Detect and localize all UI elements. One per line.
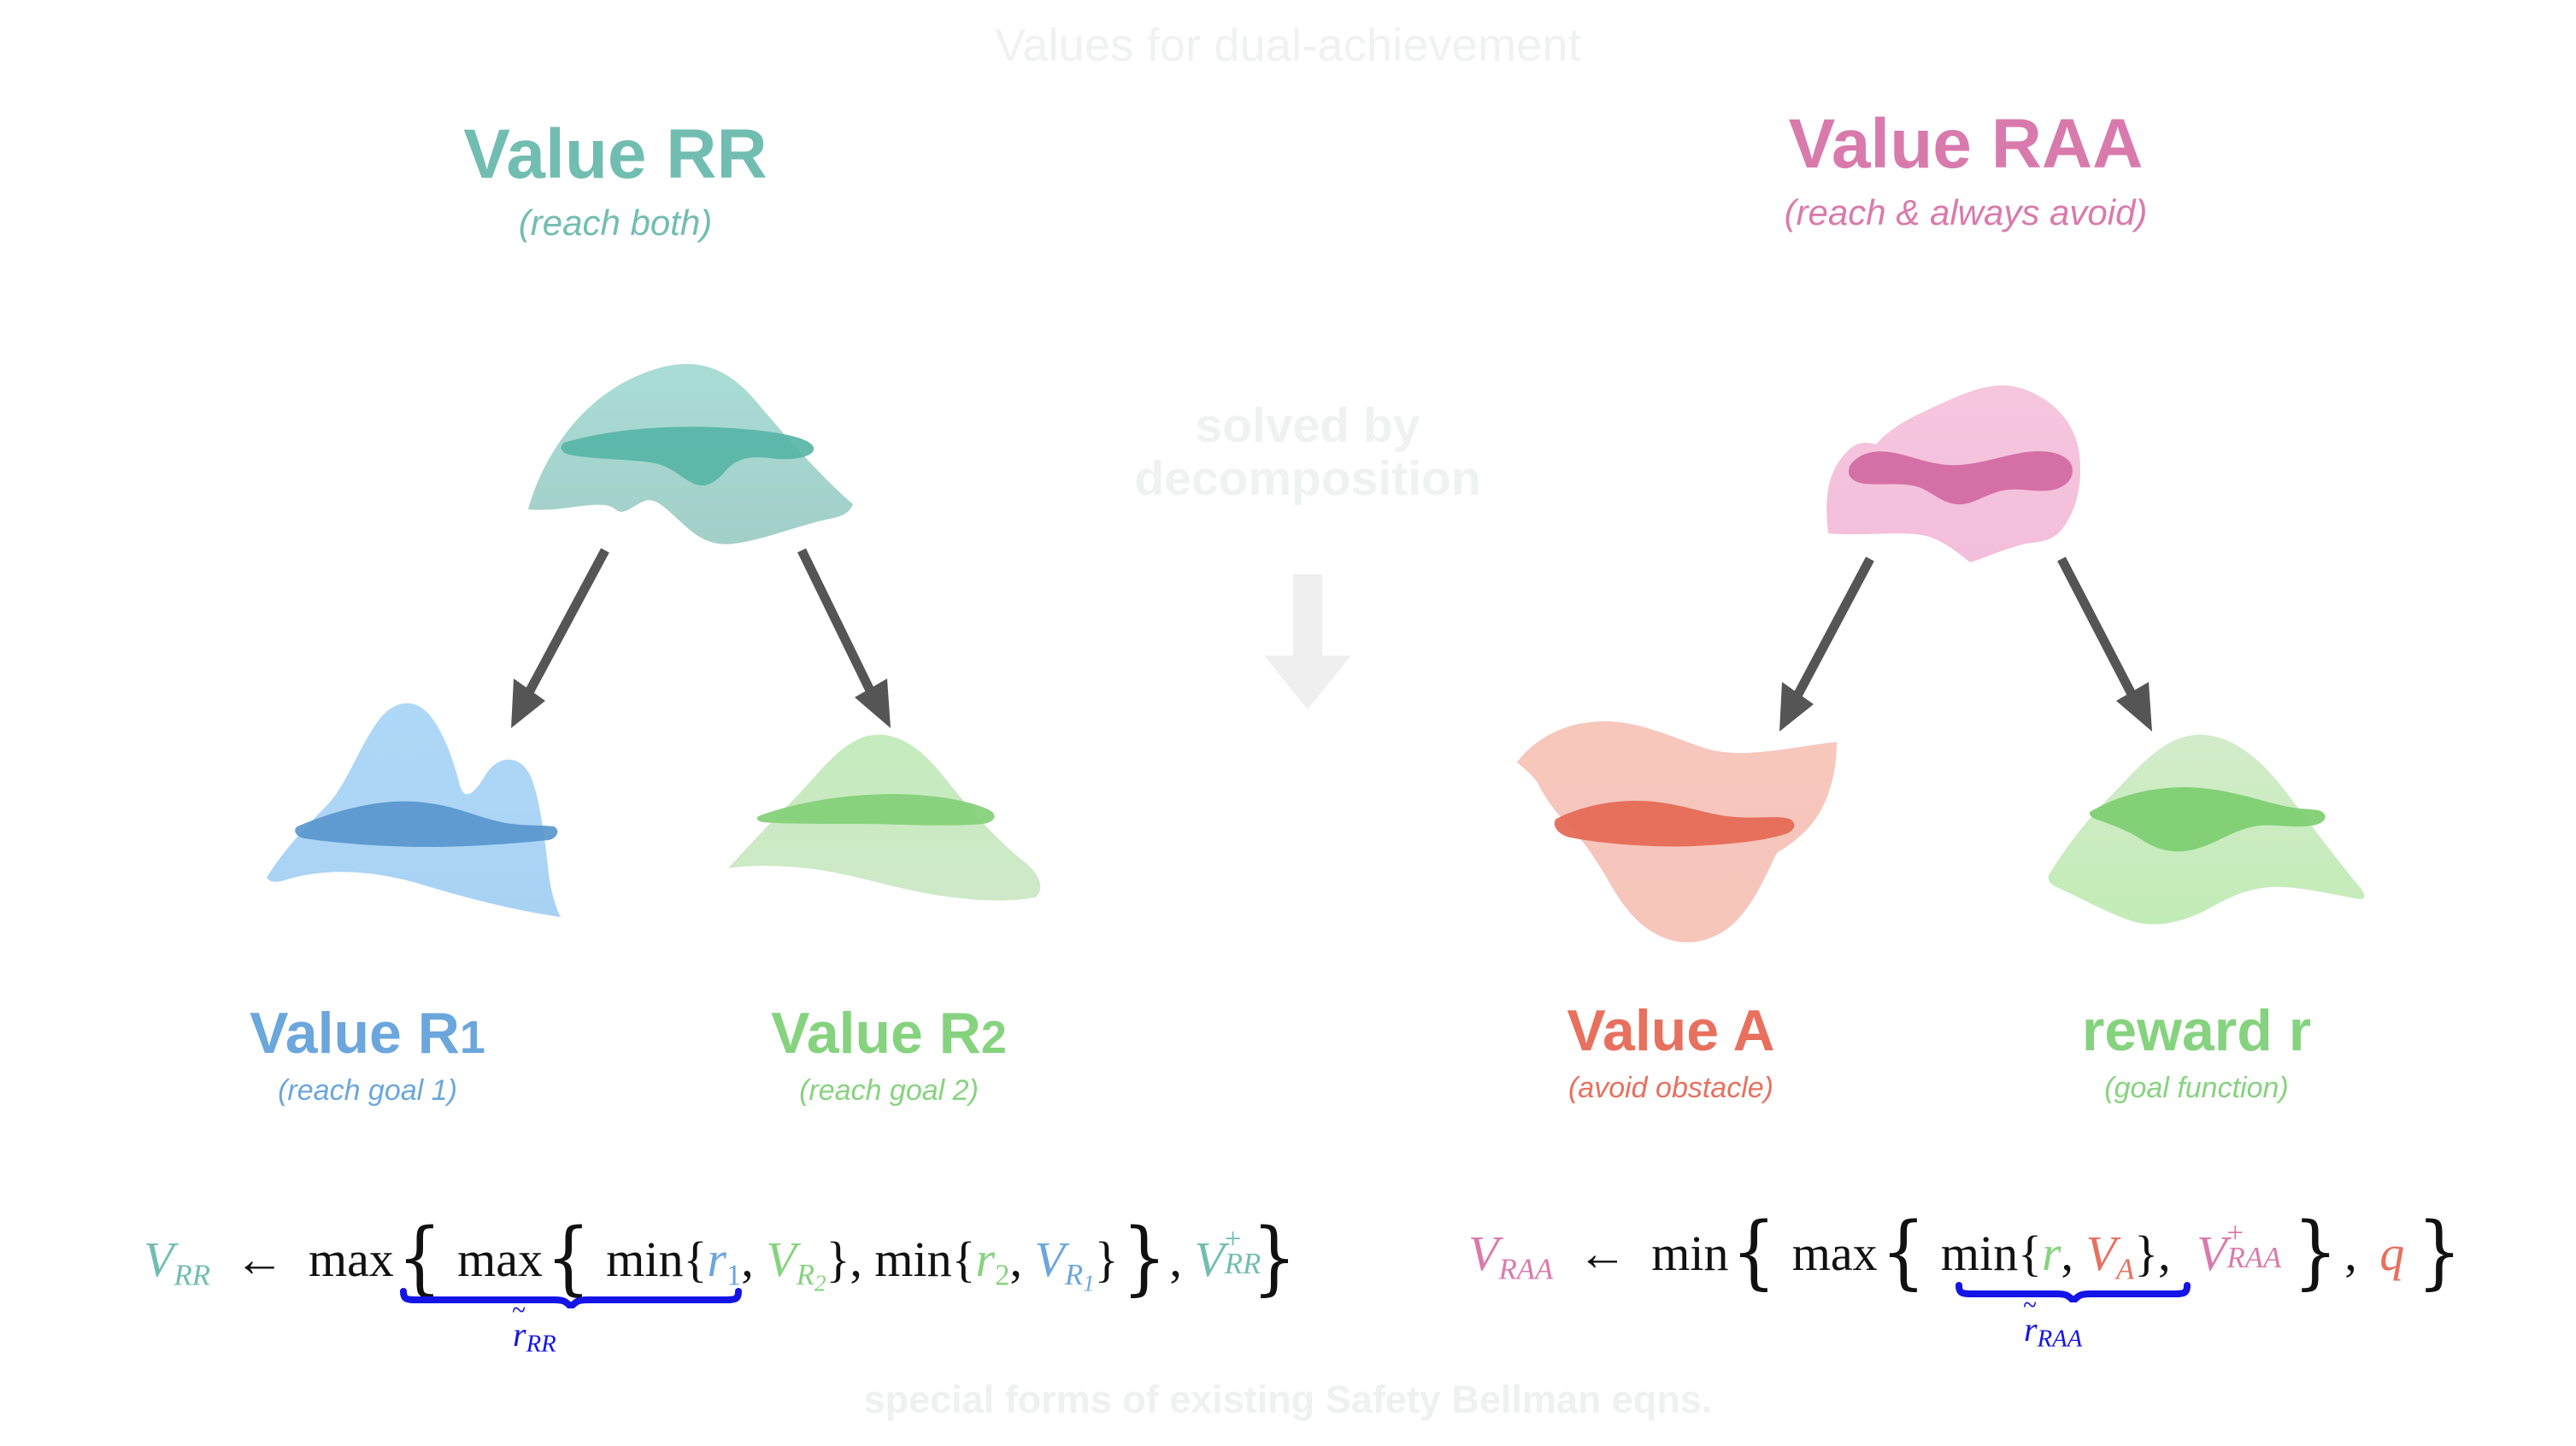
- eq-left-min1-op: min: [606, 1231, 683, 1287]
- eq-left-VR1-idx: 1: [1083, 1271, 1095, 1296]
- eq-left-min2-rbrace: }: [1095, 1231, 1119, 1287]
- left-root-title: Value RR: [273, 120, 957, 190]
- left-leaf-2-label: Value R2 (reach goal 2): [675, 1004, 1103, 1105]
- decomposition-note-line2: decomposition: [1103, 453, 1513, 506]
- eq-right-inner-lbrace: {: [1880, 1212, 1926, 1292]
- eq-right-lhs-sub: RAA: [1498, 1252, 1553, 1285]
- left-leaf-1-label: Value R1 (reach goal 1): [154, 1004, 581, 1105]
- right-root-subtitle: (reach & always avoid): [1607, 195, 2325, 231]
- eq-left-r1-sym: r: [707, 1231, 726, 1287]
- eq-left-r2-sub: 2: [995, 1258, 1009, 1291]
- eq-left-comma-3: ,: [1009, 1231, 1022, 1287]
- eq-right-comma-3: ,: [2344, 1226, 2357, 1281]
- eq-left-comma-2: ,: [850, 1231, 862, 1287]
- down-arrow-icon: [1244, 574, 1372, 711]
- eq-left-comma-4: ,: [1169, 1231, 1182, 1287]
- eq-left-lhs-sub: RR: [173, 1258, 210, 1291]
- eq-left-VR2-sub: R2: [797, 1258, 826, 1291]
- left-branch-arrow-2: [752, 538, 923, 735]
- left-leaf-2-title-index: 2: [981, 1012, 1007, 1063]
- eq-left-min2-op: min: [874, 1231, 951, 1287]
- eq-left-outer-op: max: [309, 1231, 394, 1287]
- eq-right-inner-op: max: [1792, 1226, 1878, 1281]
- eq-right-min-rbrace: }: [2134, 1226, 2158, 1281]
- right-bellman-equation: VRAA ← min{ max{ min{r, VA}, V+RAA}, q}: [1468, 1203, 2466, 1284]
- eq-right-lhs: VRAA: [1468, 1226, 1553, 1281]
- eq-left-inner-op: max: [457, 1231, 543, 1287]
- left-leaf-1-title: Value R1: [154, 1004, 581, 1062]
- right-underbrace-label-r: r: [2024, 1309, 2038, 1349]
- eq-left-VR2-R: R: [797, 1258, 815, 1291]
- right-leaf-1-subtitle: (avoid obstacle): [1457, 1073, 1885, 1102]
- right-branch-arrow-2: [2017, 547, 2188, 744]
- eq-left-r2-sym: r: [975, 1231, 995, 1287]
- eq-left-r2: r2: [975, 1231, 1009, 1287]
- eq-right-comma-2: ,: [2158, 1226, 2171, 1281]
- right-leaf-1-title-prefix: Value A: [1567, 998, 1774, 1063]
- eq-left-V-plus-RR: V+RR: [1194, 1235, 1224, 1284]
- left-root-heading: Value RR (reach both): [273, 120, 957, 241]
- left-underbrace-label-r: r: [513, 1314, 526, 1355]
- eq-left-outer-rbrace: }: [1229, 1218, 1297, 1298]
- left-underbrace-label-sub: RR: [526, 1330, 556, 1357]
- eq-right-r: r: [2042, 1226, 2061, 1281]
- eq-left-inner-rbrace: }: [1121, 1218, 1167, 1298]
- value-a-surface: [1491, 709, 1850, 957]
- left-leaf-1-title-prefix: Value R: [250, 1001, 460, 1066]
- left-root-subtitle: (reach both): [273, 205, 957, 241]
- eq-right-VA: VA: [2086, 1226, 2135, 1281]
- eq-left-min1-lbrace: {: [683, 1231, 707, 1287]
- decomposition-note: solved by decomposition: [1103, 400, 1513, 505]
- right-leaf-2-label: reward r (goal function): [1983, 1002, 2410, 1102]
- eq-left-VR2: VR2: [766, 1231, 826, 1287]
- decomposition-note-line1: solved by: [1103, 400, 1513, 453]
- left-underbrace: [400, 1286, 742, 1308]
- left-leaf-1-subtitle: (reach goal 1): [154, 1076, 581, 1105]
- eq-left-r1: r1: [707, 1231, 741, 1287]
- eq-right-comma-1: ,: [2061, 1226, 2074, 1281]
- eq-right-lhs-V: V: [1468, 1226, 1498, 1281]
- eq-left-VR2-idx: 2: [815, 1271, 826, 1296]
- right-leaf-2-title: reward r: [1983, 1002, 2410, 1060]
- left-bellman-equation: VRR ← max{ max{ min{r1, VR2}, min{r2, VR…: [144, 1209, 1302, 1296]
- eq-left-lhs: VRR: [144, 1231, 210, 1287]
- eq-right-outer-op: min: [1651, 1226, 1728, 1281]
- eq-right-VA-V: V: [2086, 1226, 2116, 1281]
- eq-left-min2-lbrace: {: [952, 1231, 976, 1287]
- left-underbrace-label: rRR: [513, 1314, 556, 1358]
- eq-right-outer-lbrace: {: [1732, 1212, 1777, 1292]
- eq-right-q: q: [2369, 1226, 2404, 1281]
- footer-note: special forms of existing Safety Bellman…: [0, 1378, 2576, 1422]
- right-underbrace-label-sub: RAA: [2038, 1325, 2083, 1352]
- eq-right-assign-arrow: ←: [1566, 1226, 1639, 1281]
- left-leaf-1-title-index: 1: [460, 1012, 485, 1063]
- eq-right-V-plus-RAA-V: V: [2197, 1226, 2226, 1281]
- left-leaf-2-subtitle: (reach goal 2): [675, 1076, 1103, 1105]
- right-underbrace: [1956, 1280, 2191, 1302]
- right-leaf-1-title: Value A: [1457, 1002, 1885, 1060]
- eq-right-V-plus-RAA: V+RAA: [2183, 1229, 2226, 1278]
- right-root-heading: Value RAA (reach & always avoid): [1607, 109, 2325, 231]
- right-underbrace-label: rRAA: [2024, 1309, 2082, 1353]
- right-root-title: Value RAA: [1607, 109, 2325, 179]
- left-leaf-2-title-prefix: Value R: [771, 1001, 981, 1066]
- eq-right-outer-rbrace: }: [2408, 1212, 2462, 1292]
- eq-right-min-op: min: [1941, 1226, 2018, 1281]
- left-leaf-2-title: Value R2: [675, 1004, 1103, 1062]
- eq-right-inner-rbrace: }: [2234, 1212, 2338, 1292]
- value-r1-surface: [256, 697, 598, 927]
- eq-left-comma-1: ,: [741, 1231, 754, 1287]
- value-r2-surface: [726, 733, 1068, 938]
- right-leaf-2-subtitle: (goal function): [1983, 1073, 2410, 1102]
- eq-left-VR1: VR1: [1034, 1231, 1094, 1287]
- eq-left-VR1-V: V: [1034, 1231, 1064, 1287]
- eq-right-min-lbrace: {: [2018, 1226, 2042, 1281]
- right-leaf-2-title-prefix: reward r: [2082, 998, 2311, 1063]
- eq-left-VR1-R: R: [1065, 1258, 1083, 1291]
- eq-left-lhs-V: V: [144, 1231, 173, 1287]
- reward-r-surface: [2013, 728, 2397, 959]
- right-leaf-1-label: Value A (avoid obstacle): [1457, 1002, 1885, 1102]
- eq-left-VR1-sub: R1: [1065, 1258, 1095, 1291]
- eq-left-min1-rbrace: }: [826, 1231, 850, 1287]
- page-title: Values for dual-achievement: [0, 19, 2576, 72]
- eq-left-assign-arrow: ←: [222, 1231, 296, 1287]
- eq-left-V-plus-RR-V: V: [1194, 1231, 1224, 1287]
- eq-left-VR2-V: V: [766, 1231, 796, 1287]
